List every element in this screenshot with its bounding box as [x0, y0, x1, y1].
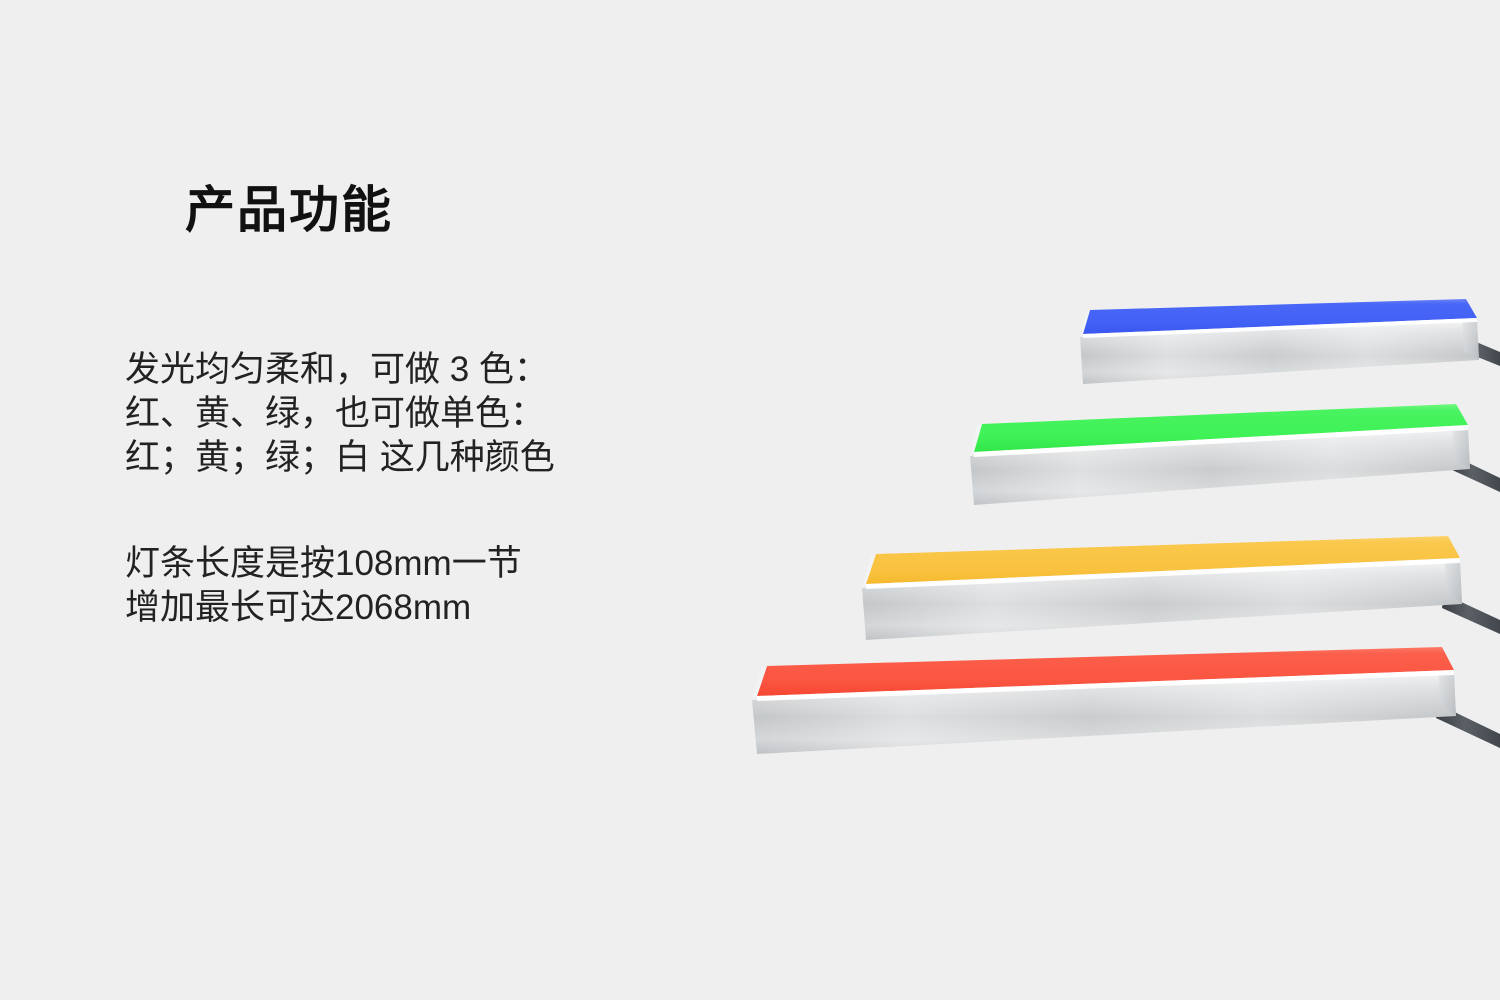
bar-left-bevel: [1080, 310, 1090, 337]
bar-lens: [1083, 299, 1477, 334]
paragraph-line: 红；黄；绿；白 这几种颜色: [125, 436, 555, 480]
bar-lens-rim: [866, 558, 1460, 589]
bar-lens: [757, 647, 1454, 696]
bar-lens-rim: [1083, 318, 1477, 338]
bar-body: [1080, 320, 1479, 384]
yellow-light-bar: [862, 536, 1500, 640]
paragraph-line: 灯条长度是按108mm一节: [125, 542, 522, 586]
bar-body: [752, 672, 1456, 754]
slide-canvas: 产品功能 发光均匀柔和，可做 3 色： 红、黄、绿，也可做单色： 红；黄；绿；白…: [0, 0, 1500, 1000]
paragraph-length-spec: 灯条长度是按108mm一节 增加最长可达2068mm: [125, 542, 522, 630]
paragraph-line: 增加最长可达2068mm: [125, 586, 522, 630]
bar-end-cap: [1438, 661, 1456, 716]
power-cable-icon: [1442, 594, 1500, 634]
green-light-bar: [970, 404, 1500, 505]
paragraph-line: 红、黄、绿，也可做单色：: [125, 392, 555, 436]
bar-lens-rim: [974, 425, 1468, 457]
bar-body: [970, 427, 1470, 505]
bar-left-bevel: [752, 666, 767, 700]
red-light-bar: [752, 647, 1500, 754]
bar-lens: [974, 404, 1468, 452]
bar-lens: [866, 536, 1460, 584]
power-cable-icon: [1460, 336, 1500, 366]
bar-body-sheen: [862, 560, 1462, 640]
bar-body-sheen: [970, 427, 1470, 505]
bar-end-cap: [1452, 417, 1470, 469]
bar-left-bevel: [862, 554, 876, 588]
bar-end-cap: [1444, 549, 1462, 604]
page-title: 产品功能: [185, 183, 393, 238]
paragraph-color-options: 发光均匀柔和，可做 3 色： 红、黄、绿，也可做单色： 红；黄；绿；白 这几种颜…: [125, 348, 555, 480]
bar-left-bevel: [970, 424, 982, 456]
power-cable-icon: [1436, 704, 1500, 748]
bar-body-sheen: [752, 672, 1456, 754]
text-column: 产品功能 发光均匀柔和，可做 3 色： 红、黄、绿，也可做单色： 红；黄；绿；白…: [0, 0, 700, 1000]
power-cable-icon: [1450, 455, 1500, 492]
bar-body-sheen: [1080, 320, 1479, 384]
paragraph-line: 发光均匀柔和，可做 3 色：: [125, 348, 555, 392]
blue-light-bar: [1080, 299, 1500, 384]
bar-body: [862, 560, 1462, 640]
bar-lens-rim: [757, 670, 1454, 701]
bar-end-cap: [1462, 311, 1479, 360]
